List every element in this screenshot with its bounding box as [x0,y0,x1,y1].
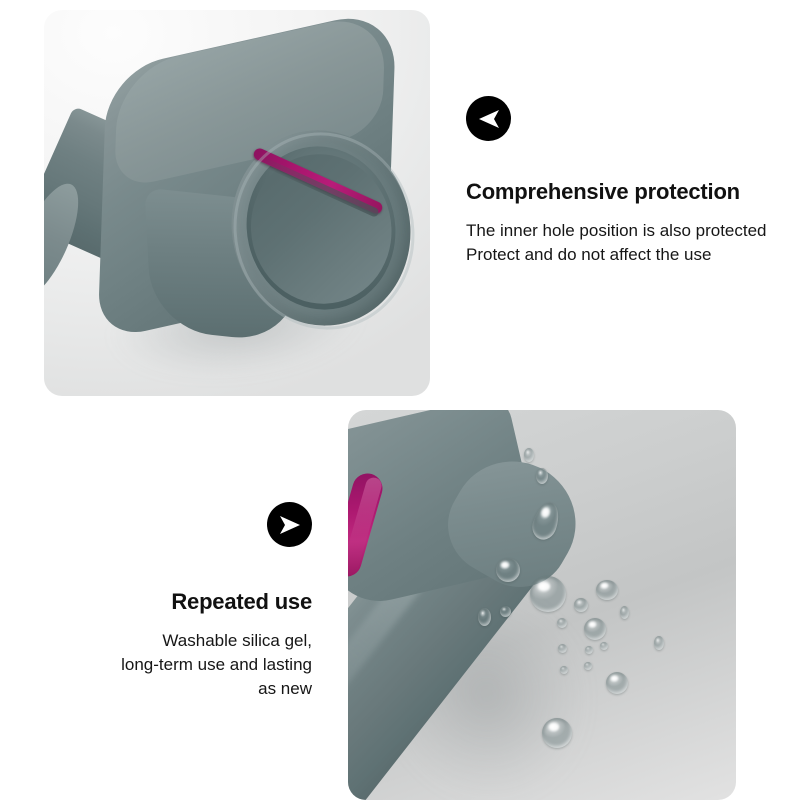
water-droplet [558,644,567,653]
water-droplet [478,608,491,626]
callout-headline: Repeated use [50,589,312,615]
water-droplet [542,718,572,748]
water-droplet [530,576,566,612]
nozzle-cover-scene [44,10,430,396]
water-droplet [524,448,534,462]
callout-body: The inner hole position is also protecte… [466,219,786,267]
water-droplet [654,636,664,650]
water-droplet [560,666,568,674]
handle-scene [348,410,736,800]
water-droplet [584,618,606,640]
product-photo-nozzle-cover [44,10,430,396]
water-droplet [600,642,608,650]
callout-body: Washable silica gel, long-term use and l… [50,629,312,701]
callout-repeated-use: Repeated use Washable silica gel, long-t… [50,502,312,701]
water-droplet [584,662,592,670]
arrow-right-circle-icon [267,502,312,547]
water-droplet [557,618,567,628]
callout-comprehensive-protection: Comprehensive protection The inner hole … [466,96,786,267]
water-droplet [606,672,628,694]
water-droplet [620,606,629,619]
water-droplet [585,646,593,654]
infographic-stage: Comprehensive protection The inner hole … [0,0,800,800]
water-droplet [496,558,520,582]
water-droplet [574,598,588,612]
water-droplet [596,580,618,600]
product-photo-handle-waterproof [348,410,736,800]
water-droplet [500,606,511,617]
water-droplet [536,468,548,484]
arrow-left-circle-icon [466,96,511,141]
callout-headline: Comprehensive protection [466,179,786,205]
